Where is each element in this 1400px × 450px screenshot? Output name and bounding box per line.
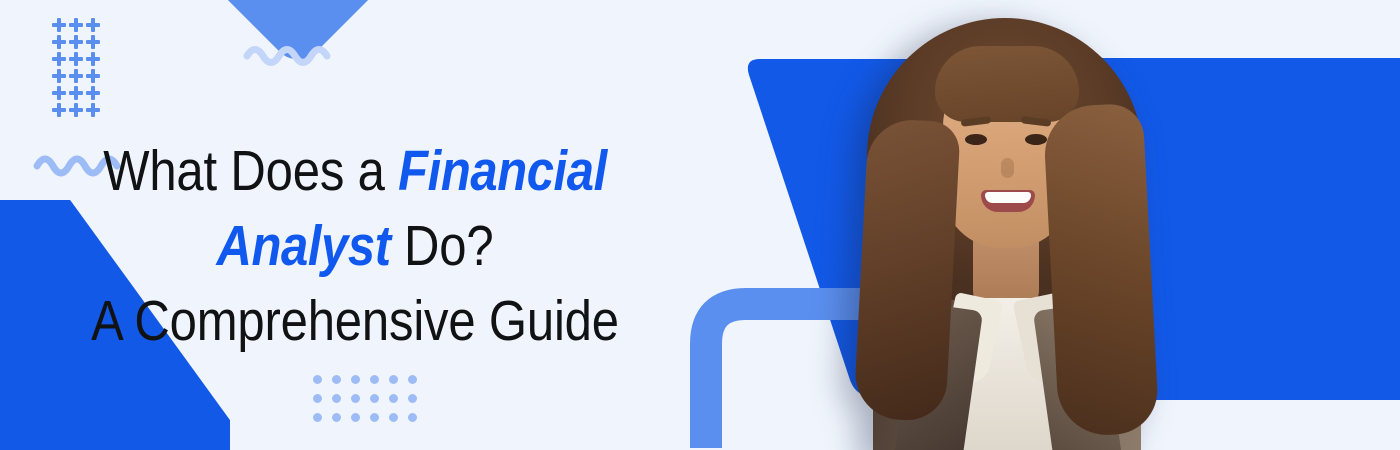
eye-right (1025, 134, 1047, 145)
dot-icon (327, 370, 346, 389)
dot-icon (365, 370, 384, 389)
plus-grid-decoration (52, 18, 101, 118)
hero-banner: What Does a Financial Analyst Do? A Comp… (0, 0, 1400, 450)
dot-icon (308, 370, 327, 389)
hair-right-strand (1042, 103, 1159, 438)
plus-icon (69, 86, 84, 101)
plus-icon (52, 103, 67, 118)
businesswoman-photo (855, 0, 1155, 450)
banner-headline: What Does a Financial Analyst Do? A Comp… (50, 134, 661, 359)
headline-line-1: What Does a Financial (50, 134, 661, 209)
dot-icon (308, 408, 327, 427)
teeth (985, 192, 1031, 203)
plus-icon (52, 86, 67, 101)
headline-line-2: Analyst Do? (50, 209, 661, 284)
dot-icon (384, 408, 403, 427)
dot-icon (327, 408, 346, 427)
wave-top-icon (243, 38, 341, 68)
headline-line-2-suffix: Do? (391, 214, 494, 278)
dot-icon (365, 389, 384, 408)
plus-icon (86, 52, 101, 67)
dot-icon (308, 389, 327, 408)
mouth (981, 190, 1035, 212)
plus-icon (86, 69, 101, 84)
eye-left (965, 134, 987, 145)
dot-icon (346, 389, 365, 408)
plus-icon (86, 35, 101, 50)
headline-accent-financial: Financial (398, 139, 607, 203)
dot-icon (346, 370, 365, 389)
hair-fringe (935, 46, 1079, 122)
dot-icon (384, 370, 403, 389)
plus-icon (69, 35, 84, 50)
plus-icon (52, 18, 67, 33)
dot-icon (327, 389, 346, 408)
headline-line-1-prefix: What Does a (103, 139, 398, 203)
dot-icon (346, 408, 365, 427)
plus-icon (52, 52, 67, 67)
dot-icon (365, 408, 384, 427)
dot-icon (403, 408, 422, 427)
dot-grid-decoration (308, 370, 422, 427)
headline-line-3: A Comprehensive Guide (50, 284, 661, 359)
plus-icon (69, 103, 84, 118)
plus-icon (69, 69, 84, 84)
headline-accent-analyst: Analyst (217, 214, 391, 278)
hair-left-strand (853, 118, 961, 422)
plus-icon (69, 18, 84, 33)
dot-icon (384, 389, 403, 408)
dot-icon (403, 370, 422, 389)
plus-icon (52, 35, 67, 50)
plus-icon (86, 86, 101, 101)
plus-icon (86, 103, 101, 118)
plus-icon (86, 18, 101, 33)
plus-icon (52, 69, 67, 84)
nose (1001, 158, 1014, 178)
dot-icon (403, 389, 422, 408)
plus-icon (69, 52, 84, 67)
